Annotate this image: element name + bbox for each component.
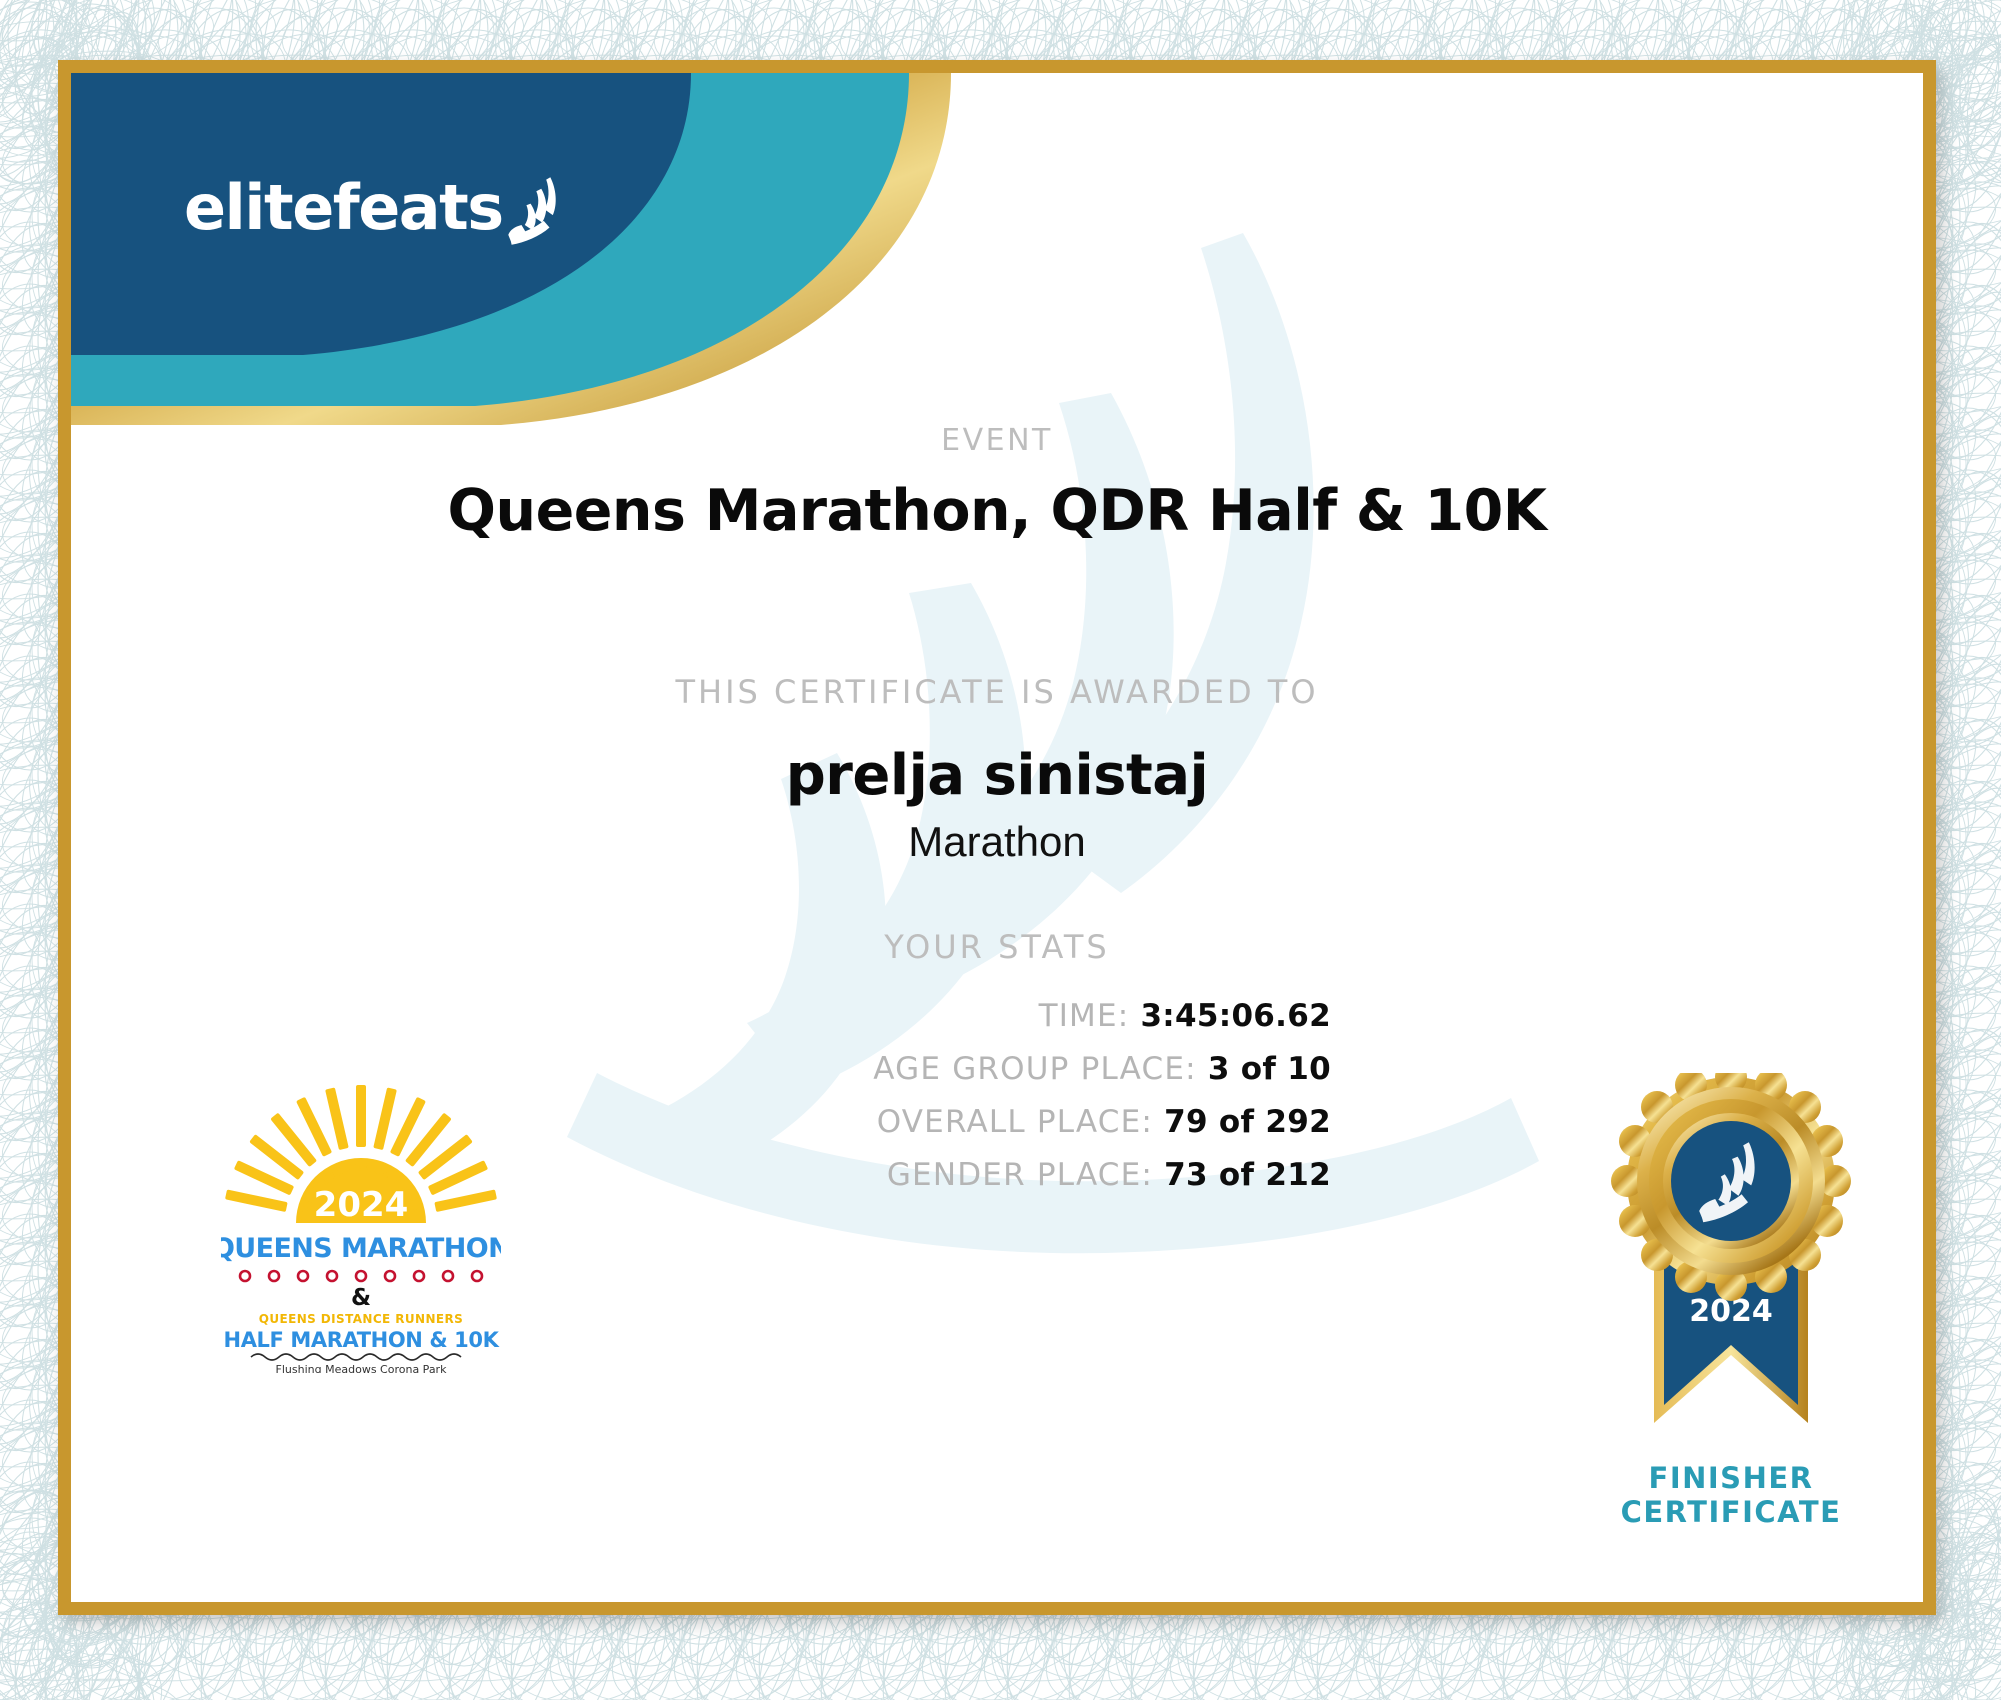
stat-row-age-group-place: AGE GROUP PLACE: 3 of 10	[371, 1051, 1331, 1104]
wave-divider	[251, 1354, 461, 1360]
stat-value: 3:45:06.62	[1140, 998, 1331, 1034]
finisher-caption-line2: CERTIFICATE	[1576, 1495, 1886, 1529]
race-logo-line3: HALF MARATHON & 10K	[224, 1328, 500, 1352]
event-label: EVENT	[71, 423, 1923, 458]
event-title: Queens Marathon, QDR Half & 10K	[71, 478, 1923, 544]
queens-marathon-race-logo: QUEENS DISTANCE RUNNERS 2024 QUEENS MARA…	[221, 1073, 501, 1373]
stat-row-time: TIME: 3:45:06.62	[371, 998, 1331, 1051]
stat-key: OVERALL PLACE:	[877, 1104, 1153, 1140]
certificate-page: elitefeats EVENT Queens Marathon, QDR Ha…	[0, 0, 2001, 1700]
race-logo-ampersand: &	[351, 1285, 371, 1311]
finisher-medal: 2024	[1576, 1073, 1886, 1473]
stat-value: 3 of 10	[1208, 1051, 1331, 1087]
stat-value: 79 of 292	[1164, 1104, 1331, 1140]
stat-key: AGE GROUP PLACE:	[873, 1051, 1197, 1087]
recipient-name: prelja sinistaj	[71, 743, 1923, 808]
stat-key: GENDER PLACE:	[887, 1157, 1153, 1193]
stat-value: 73 of 212	[1164, 1157, 1331, 1193]
finisher-certificate-caption: FINISHER CERTIFICATE	[1576, 1461, 1886, 1529]
elitefeats-logo: elitefeats	[184, 153, 564, 263]
stat-key: TIME:	[1039, 998, 1130, 1034]
finisher-caption-line1: FINISHER	[1576, 1461, 1886, 1495]
race-logo-line1: QUEENS MARATHON	[221, 1233, 501, 1264]
stat-row-overall-place: OVERALL PLACE: 79 of 292	[371, 1104, 1331, 1157]
certificate-card: elitefeats EVENT Queens Marathon, QDR Ha…	[58, 60, 1936, 1615]
recipient-division: Marathon	[71, 818, 1923, 866]
race-logo-line2: QUEENS DISTANCE RUNNERS	[259, 1312, 463, 1326]
stat-row-gender-place: GENDER PLACE: 73 of 212	[371, 1157, 1331, 1210]
stats-list: TIME: 3:45:06.62 AGE GROUP PLACE: 3 of 1…	[371, 998, 1331, 1210]
awarded-to-label: THIS CERTIFICATE IS AWARDED TO	[71, 673, 1923, 711]
race-logo-venue: Flushing Meadows Corona Park	[276, 1363, 448, 1373]
brand-wordmark: elitefeats	[184, 177, 503, 239]
medal-disc	[1611, 1073, 1851, 1301]
winged-foot-icon	[505, 168, 564, 254]
dot-row	[240, 1271, 482, 1281]
your-stats-label: YOUR STATS	[71, 928, 1923, 966]
race-logo-year: 2024	[314, 1185, 409, 1225]
finisher-medal-block: 2024	[1576, 1073, 1886, 1553]
